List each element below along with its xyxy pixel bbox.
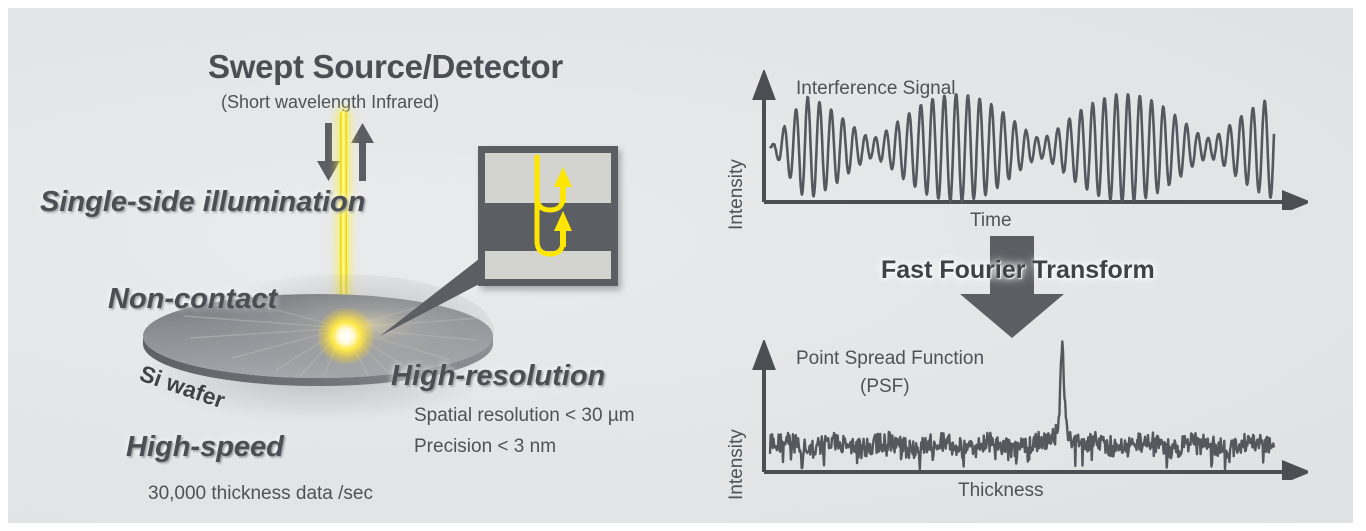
beam-spot-glow xyxy=(318,308,374,364)
fft-label: Fast Fourier Transform xyxy=(881,256,1155,285)
inset-ray-arrowhead-bottom xyxy=(554,211,572,247)
psf-waveform xyxy=(770,342,1274,470)
chart-bot-axes xyxy=(755,344,1306,480)
feature-high-speed: High-speed xyxy=(126,431,284,464)
feature-high-resolution: High-resolution xyxy=(391,360,605,393)
point-spread-function-chart: Intensity Point Spread Function (PSF) Th… xyxy=(708,340,1308,510)
chart-top-axes xyxy=(755,74,1306,210)
detail-throughput: 30,000 thickness data /sec xyxy=(148,483,373,505)
diagram-panel: Swept Source/Detector (Short wavelength … xyxy=(8,8,1353,523)
interference-signal-chart: Intensity Interference Signal Time xyxy=(708,70,1308,240)
fft-down-arrow-icon xyxy=(954,236,1070,339)
up-arrow-icon xyxy=(351,123,374,181)
detail-precision: Precision < 3 nm xyxy=(414,436,556,458)
inset-ray-arrows xyxy=(485,153,611,279)
wafer-cross-section-inset xyxy=(478,146,618,286)
diagram-root: Swept Source/Detector (Short wavelength … xyxy=(0,0,1366,531)
interference-waveform xyxy=(770,94,1274,202)
chart-top-xlabel: Time xyxy=(970,210,1012,232)
inset-ray-arrowhead-top xyxy=(554,167,572,203)
page-title: Swept Source/Detector xyxy=(208,48,563,86)
feature-single-side-illumination: Single-side illumination xyxy=(40,186,365,219)
feature-non-contact: Non-contact xyxy=(108,283,277,316)
detail-spatial-resolution: Spatial resolution < 30 µm xyxy=(414,405,635,427)
down-arrow-icon xyxy=(317,123,340,181)
chart-bot-xlabel: Thickness xyxy=(958,480,1044,502)
page-subtitle: (Short wavelength Infrared) xyxy=(221,92,439,113)
